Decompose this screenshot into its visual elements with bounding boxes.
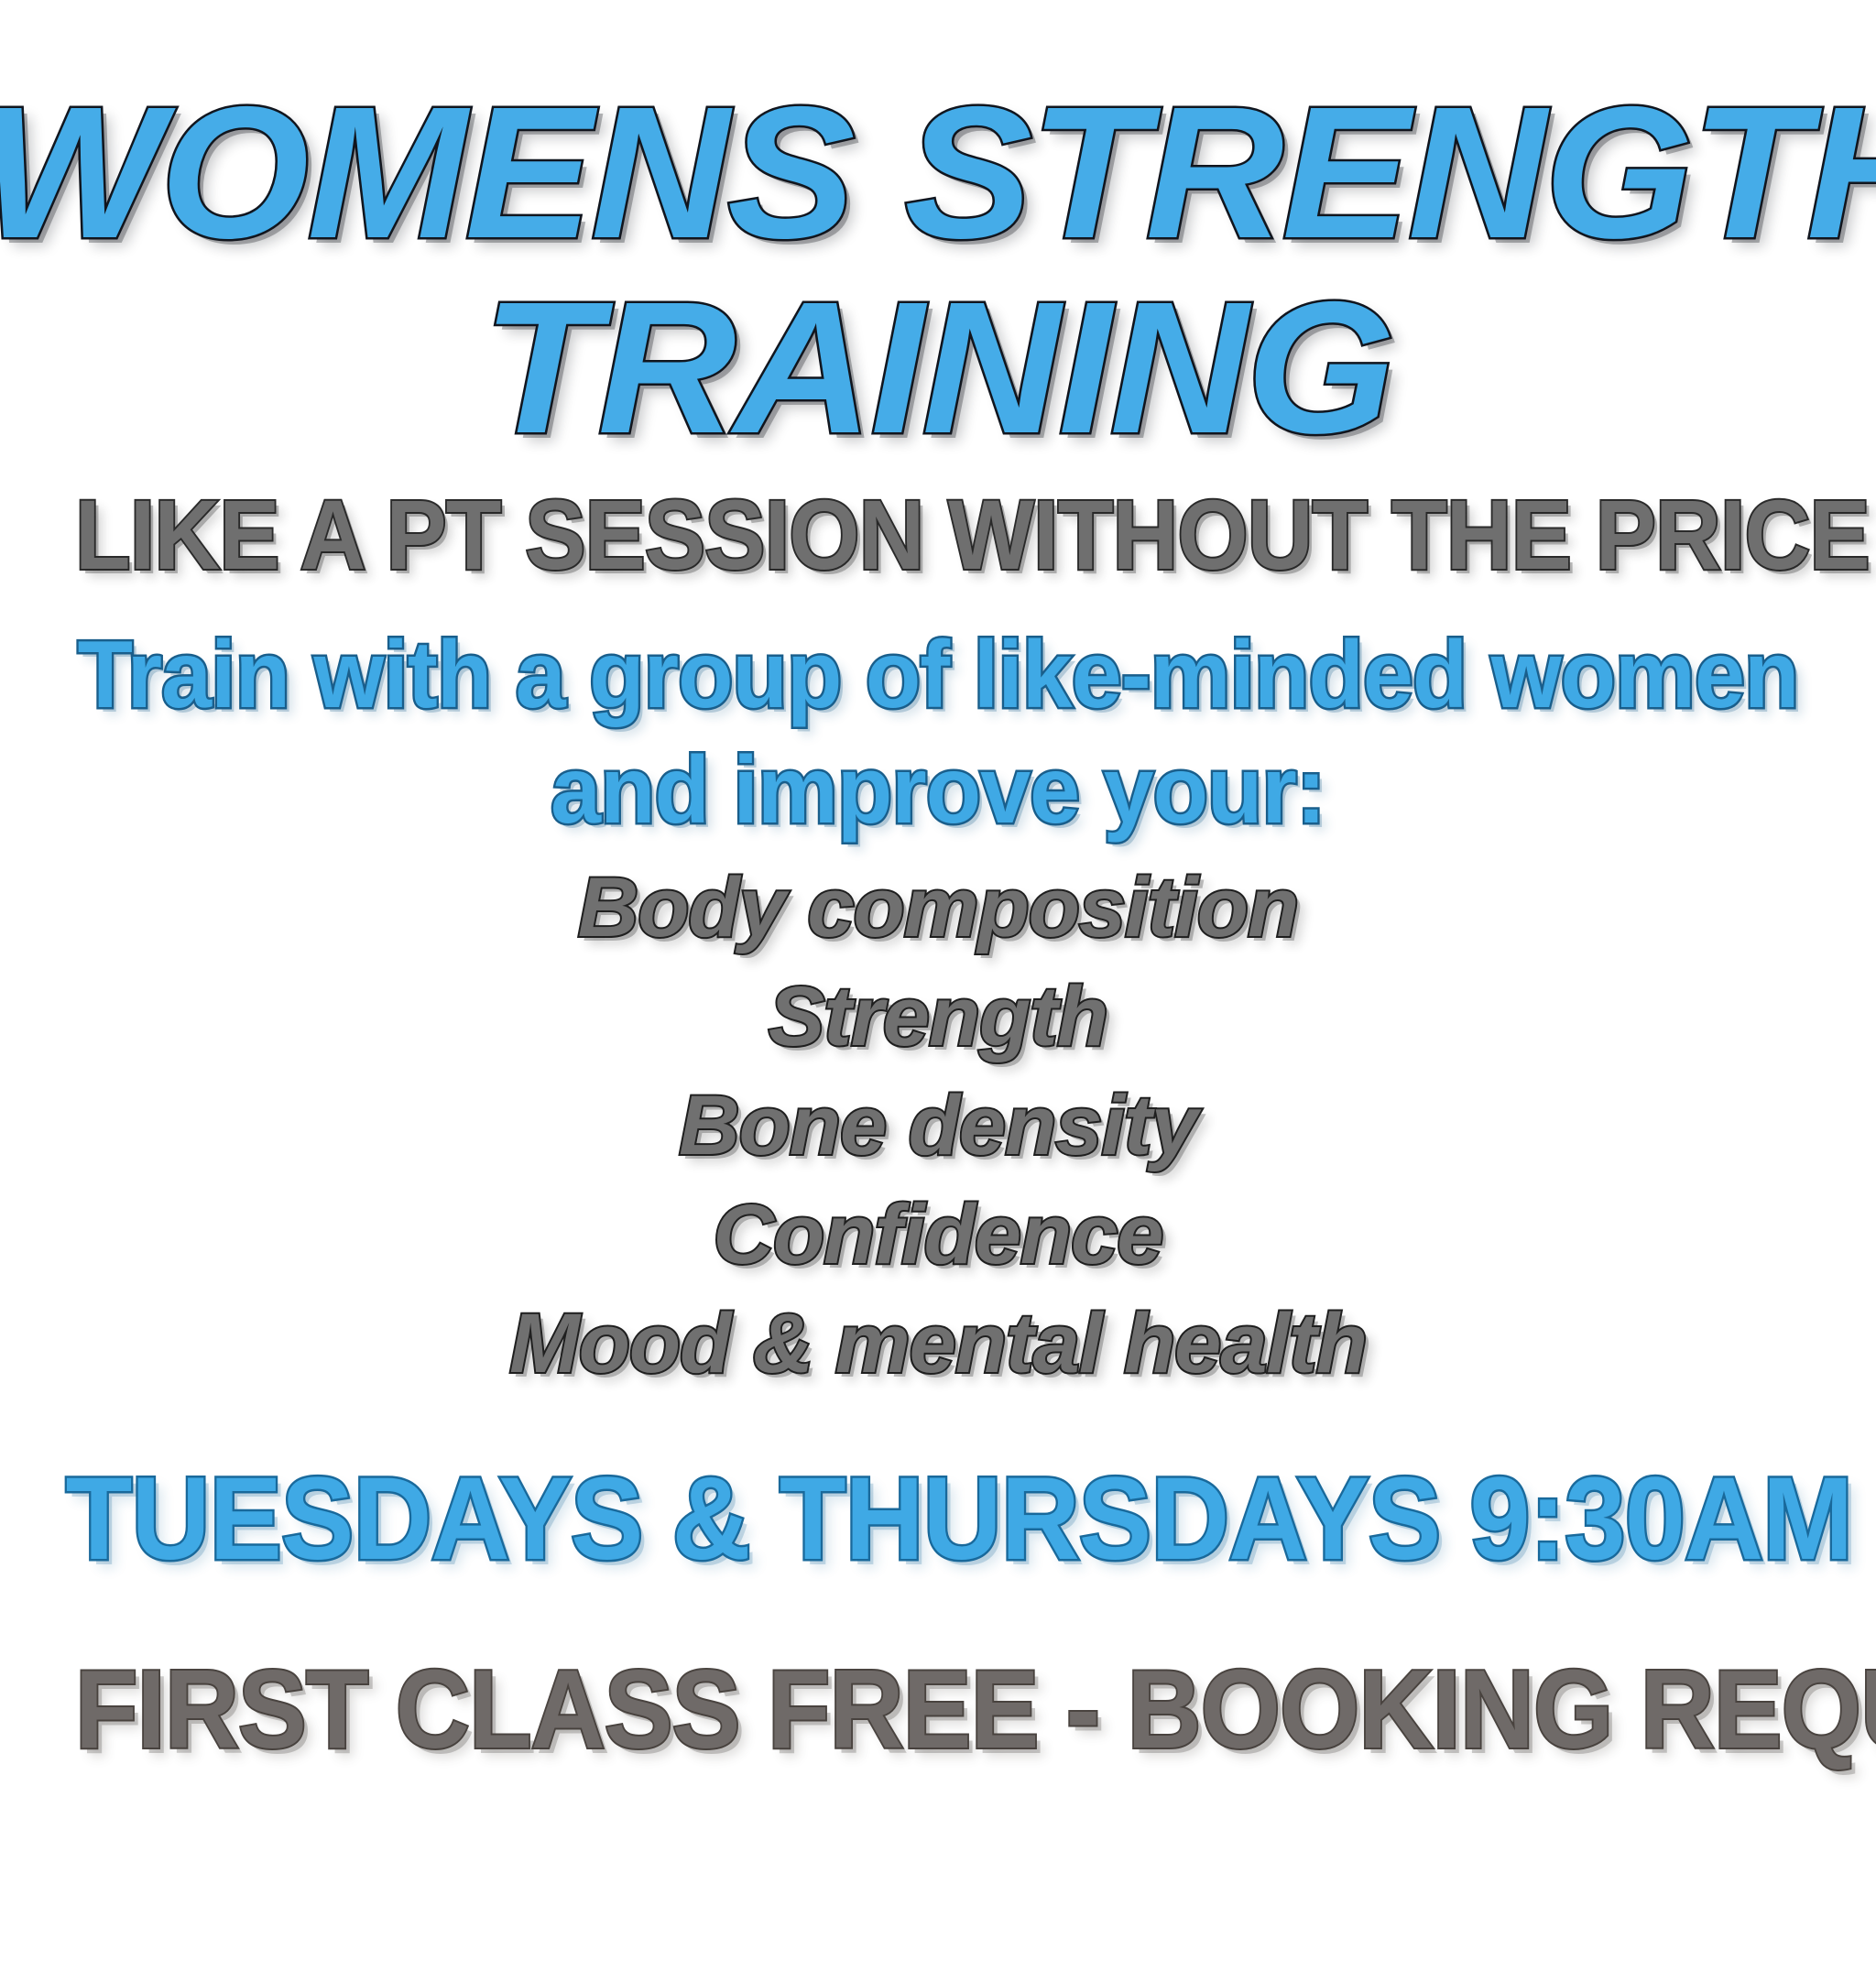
poster-canvas: WOMENS STRENGTH TRAINING LIKE A PT SESSI… xyxy=(0,0,1876,1982)
poster-schedule: TUESDAYS & THURSDAYS 9:30AM xyxy=(0,1461,1876,1578)
title-line-1: WOMENS STRENGTH xyxy=(0,79,1876,267)
benefit-item: Confidence xyxy=(0,1192,1876,1277)
poster-intro: Train with a group of like-minded women … xyxy=(0,627,1876,838)
benefit-item: Body composition xyxy=(0,866,1876,950)
title-line-2: TRAINING xyxy=(0,274,1876,462)
schedule-text: TUESDAYS & THURSDAYS 9:30AM xyxy=(66,1461,1811,1578)
intro-line-1: Train with a group of like-minded women xyxy=(47,627,1829,723)
benefits-list: Body composition Strength Bone density C… xyxy=(0,866,1876,1386)
poster-cta: FIRST CLASS FREE - BOOKING REQUIRED xyxy=(0,1653,1876,1765)
benefit-item: Strength xyxy=(0,975,1876,1059)
benefit-item: Bone density xyxy=(0,1084,1876,1168)
cta-text: FIRST CLASS FREE - BOOKING REQUIRED xyxy=(75,1653,1801,1765)
benefit-item: Mood & mental health xyxy=(0,1301,1876,1386)
intro-line-2: and improve your: xyxy=(47,743,1829,838)
poster-title: WOMENS STRENGTH TRAINING xyxy=(0,79,1876,462)
poster-tagline: LIKE A PT SESSION WITHOUT THE PRICE TAG! xyxy=(0,485,1876,584)
tagline-text: LIKE A PT SESSION WITHOUT THE PRICE TAG! xyxy=(75,485,1801,584)
